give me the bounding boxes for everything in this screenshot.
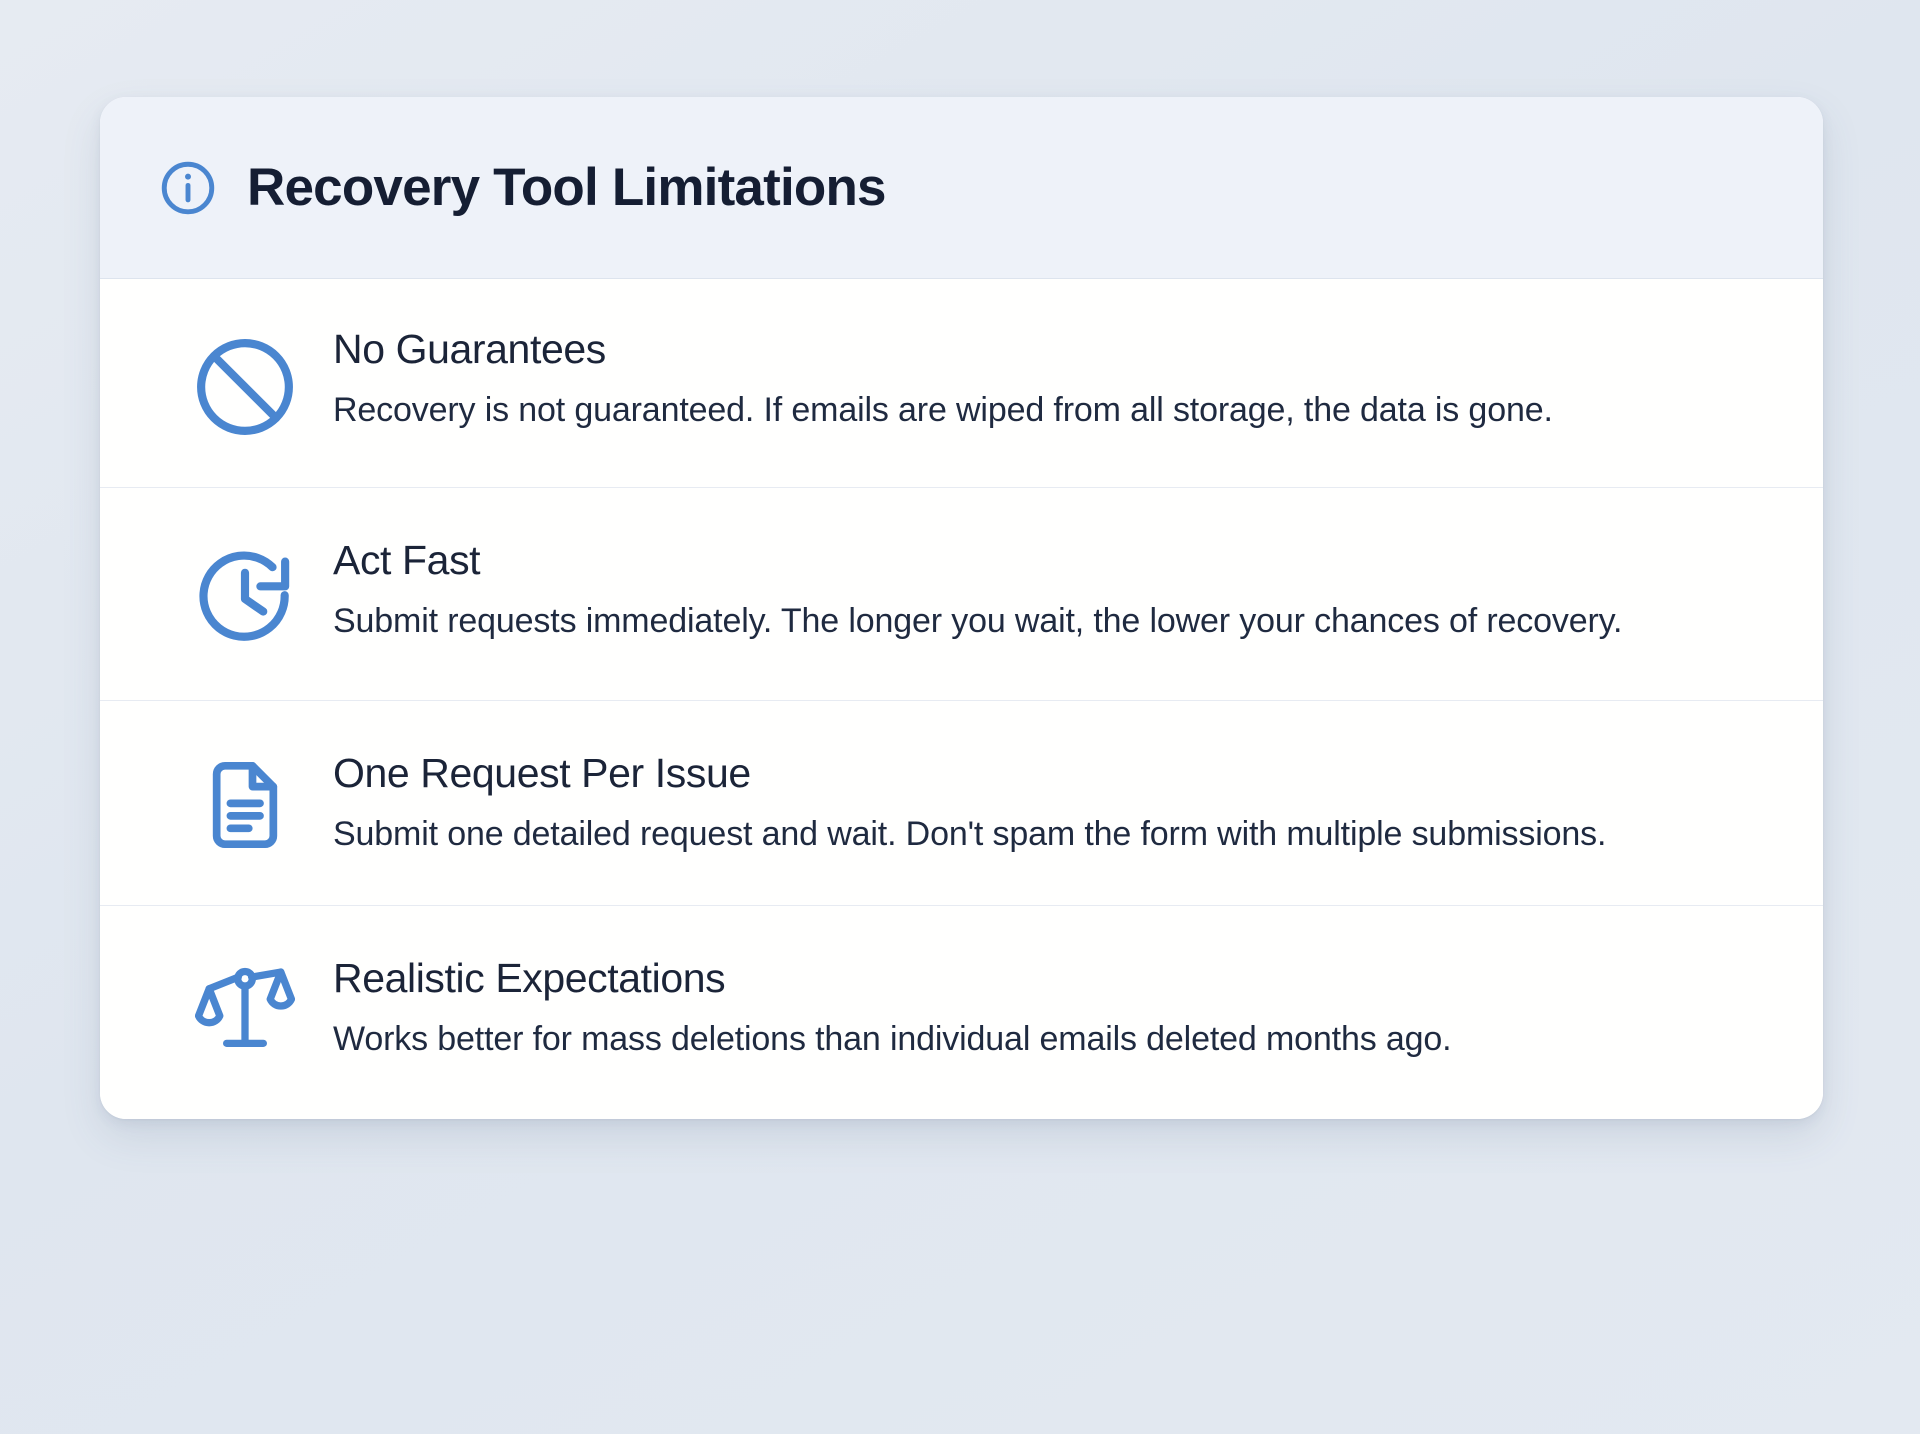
limitation-description: Submit requests immediately. The longer … <box>333 597 1718 645</box>
limitation-description: Recovery is not guaranteed. If emails ar… <box>333 386 1718 434</box>
ban-icon <box>157 325 333 443</box>
limitation-body: One Request Per Issue Submit one detaile… <box>333 749 1763 859</box>
limitation-item-no-guarantees: No Guarantees Recovery is not guaranteed… <box>100 279 1823 488</box>
limitation-description: Submit one detailed request and wait. Do… <box>333 810 1718 858</box>
limitation-item-realistic-expectations: Realistic Expectations Works better for … <box>100 906 1823 1120</box>
page-title: Recovery Tool Limitations <box>247 160 886 216</box>
clock-rotate-icon <box>157 536 333 654</box>
limitation-item-act-fast: Act Fast Submit requests immediately. Th… <box>100 488 1823 701</box>
limitation-description: Works better for mass deletions than ind… <box>333 1015 1718 1063</box>
limitation-item-one-request-per-issue: One Request Per Issue Submit one detaile… <box>100 701 1823 906</box>
scales-balance-icon <box>157 954 333 1060</box>
card-header: Recovery Tool Limitations <box>100 97 1823 279</box>
recovery-tool-limitations-card: Recovery Tool Limitations No Guarantees … <box>100 97 1823 1119</box>
document-lines-icon <box>157 749 333 855</box>
info-circle-icon <box>157 157 219 219</box>
limitation-title: One Request Per Issue <box>333 749 1753 797</box>
limitation-body: No Guarantees Recovery is not guaranteed… <box>333 325 1763 435</box>
limitation-title: Realistic Expectations <box>333 954 1753 1002</box>
limitation-body: Act Fast Submit requests immediately. Th… <box>333 536 1763 646</box>
limitation-title: Act Fast <box>333 536 1753 584</box>
limitation-title: No Guarantees <box>333 325 1753 373</box>
limitation-body: Realistic Expectations Works better for … <box>333 954 1763 1064</box>
page-background: Recovery Tool Limitations No Guarantees … <box>0 0 1920 1434</box>
